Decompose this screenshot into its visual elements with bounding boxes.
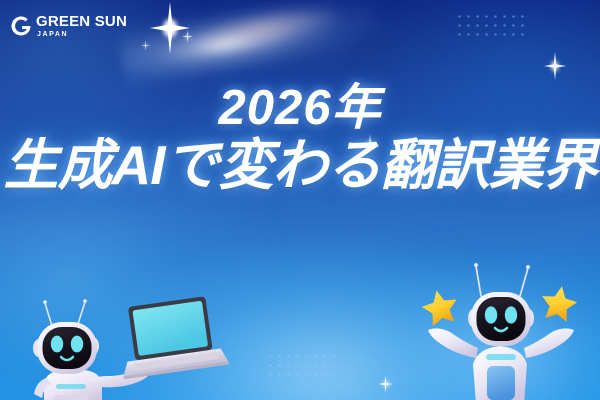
robot-with-laptop [22,286,222,400]
headline-block: 2026年 生成AIで変わる翻訳業界 [0,84,600,195]
brand-logo[interactable]: GREEN SUN JAPAN [10,14,127,38]
star-left-icon [419,287,461,328]
headline-year: 2026年 [0,84,600,133]
star-right-icon [538,283,579,323]
dot-grid-top-right-icon [455,12,529,42]
logo-name: GREEN SUN [36,14,127,29]
circular-g-logo-icon [10,15,32,37]
promo-banner: GREEN SUN JAPAN 2026年 生成AIで変わる翻訳業界 [0,0,600,400]
headline-main: 生成AIで変わる翻訳業界 [0,137,600,195]
robot-cheering [416,254,596,400]
dot-grid-bottom-center-icon [266,352,341,380]
logo-subtitle: JAPAN [37,31,127,38]
